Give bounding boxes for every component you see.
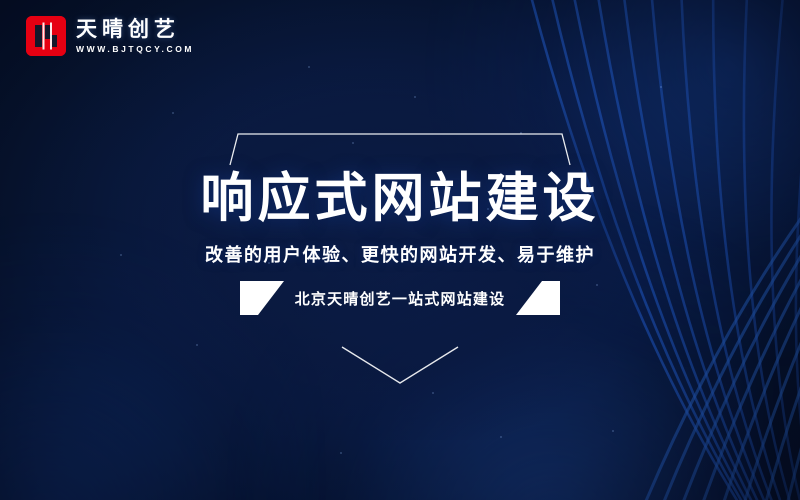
page-title: 响应式网站建设 xyxy=(201,172,600,225)
brand-logo[interactable]: 天晴创艺 WWW.BJTQCY.COM xyxy=(26,16,194,56)
brand-name: 天晴创艺 xyxy=(76,19,194,41)
tqcy-logo-mark-icon xyxy=(26,16,66,56)
hero-tagline: 北京天晴创艺一站式网站建设 xyxy=(295,288,506,309)
brand-website: WWW.BJTQCY.COM xyxy=(76,45,194,54)
hero-banner: 天晴创艺 WWW.BJTQCY.COM 响应式网站建设 改善的用户体验、更快的网… xyxy=(0,0,800,500)
brand-logo-text: 天晴创艺 WWW.BJTQCY.COM xyxy=(76,19,194,54)
hero-subtitle: 改善的用户体验、更快的网站开发、易于维护 xyxy=(205,241,595,267)
angled-wing-right-icon xyxy=(516,281,560,315)
angled-wing-left-icon xyxy=(240,281,284,315)
chevron-down-icon xyxy=(336,345,464,387)
hero-content: 响应式网站建设 改善的用户体验、更快的网站开发、易于维护 北京天晴创艺一站式网站… xyxy=(0,132,800,387)
hero-tagline-band: 北京天晴创艺一站式网站建设 xyxy=(240,281,560,315)
trapezoid-bracket-icon xyxy=(200,132,600,166)
